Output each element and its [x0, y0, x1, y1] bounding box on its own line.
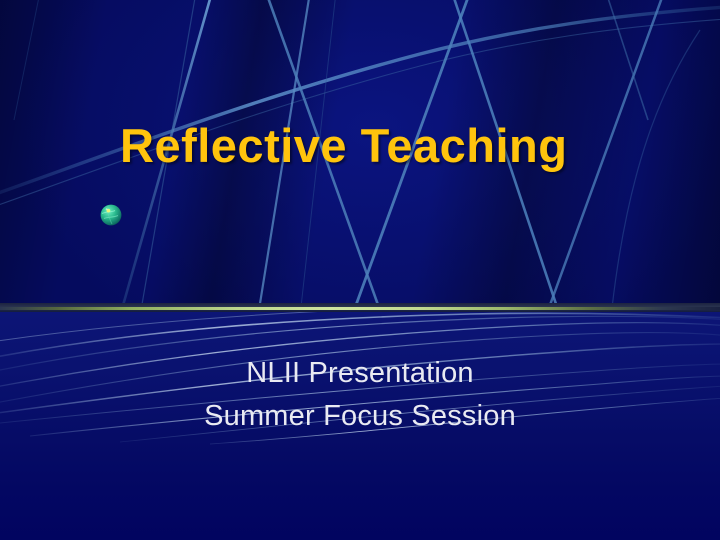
- subtitle-line-2: Summer Focus Session: [60, 395, 660, 438]
- presentation-slide: Reflective Teaching: [0, 0, 720, 540]
- divider-accent-line: [0, 307, 720, 310]
- slide-subtitle: NLII Presentation Summer Focus Session: [60, 352, 660, 438]
- slide-title: Reflective Teaching: [120, 121, 620, 170]
- globe-icon: [99, 203, 123, 227]
- subtitle-line-1: NLII Presentation: [60, 352, 660, 395]
